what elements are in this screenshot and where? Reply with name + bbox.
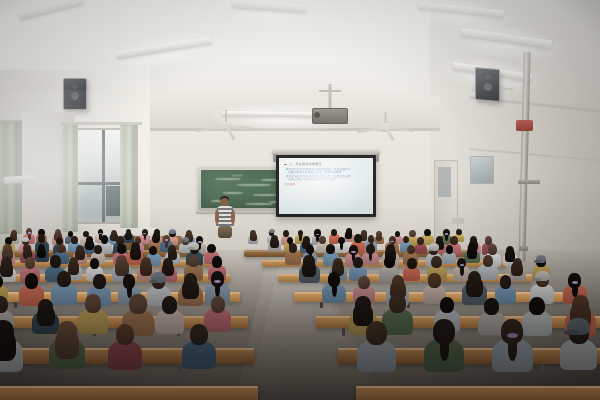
classroom-photo: 二、专业培养的重要性 ◦ 本专业培养适应社会主义现代化建设，专业基础扩实 ◦ 系… — [0, 0, 600, 400]
student-head — [484, 298, 499, 316]
slide-highlight-1: 创新精神 — [284, 183, 368, 186]
student — [424, 319, 464, 377]
student-head — [0, 296, 8, 313]
lecturer-arm-left — [215, 210, 219, 224]
student-head — [190, 324, 208, 345]
slide-title-row: 二、专业培养的重要性 — [284, 162, 368, 166]
student-head — [93, 274, 106, 289]
student-head — [211, 296, 226, 313]
desk-leg — [14, 302, 17, 308]
student-long-hair — [55, 330, 79, 358]
student-head — [85, 294, 101, 313]
student-long-hair — [511, 262, 523, 276]
student-cap-brim — [188, 247, 194, 249]
student-head — [319, 236, 326, 244]
student — [560, 321, 597, 376]
student — [357, 321, 396, 377]
student-cap-brim — [427, 249, 433, 251]
fan-blade — [357, 126, 386, 133]
student-head — [188, 255, 199, 267]
student-head — [529, 297, 545, 315]
student-head — [485, 236, 492, 245]
student-head — [366, 321, 387, 345]
student-torso — [155, 310, 183, 334]
lecturer — [214, 196, 236, 236]
door-window — [438, 167, 451, 197]
student — [492, 319, 532, 378]
lecturer-arm-right — [231, 210, 235, 224]
student-ponytail — [440, 335, 449, 361]
student-head — [407, 258, 416, 269]
desk-leg — [541, 364, 544, 374]
projection-screen: 二、专业培养的重要性 ◦ 本专业培养适应社会主义现代化建设，专业基础扩实 ◦ 系… — [276, 155, 376, 217]
student — [182, 324, 216, 373]
student-head — [152, 234, 160, 243]
student-head — [212, 256, 222, 267]
slide-title-bullet-icon — [284, 164, 287, 165]
student-head — [384, 256, 395, 268]
student-ponytail — [508, 334, 517, 360]
student-head — [500, 275, 512, 288]
student-head — [57, 271, 71, 287]
student-head — [358, 276, 370, 289]
wall-speaker-left-icon — [63, 78, 87, 110]
student-head — [162, 296, 177, 314]
fan-blade — [196, 125, 226, 132]
student-head — [116, 324, 135, 346]
student-long-hair — [250, 233, 257, 241]
student — [299, 255, 320, 285]
student-ponytail — [340, 241, 343, 249]
curtain-rail-left — [60, 122, 142, 125]
student-head — [488, 244, 497, 254]
student-head — [424, 229, 431, 237]
student-head — [149, 246, 157, 255]
sprinkler-valve — [516, 120, 533, 131]
student-cap-brim — [534, 260, 540, 262]
student-head — [90, 258, 99, 269]
student-head — [353, 257, 363, 268]
student-head — [440, 297, 454, 313]
hair-scrunchie — [445, 233, 448, 235]
student-head — [129, 294, 146, 314]
hair-scrunchie — [351, 251, 355, 253]
student-long-hair — [466, 277, 483, 297]
lecture-desk — [0, 386, 258, 400]
wall-speaker-right-icon — [475, 67, 500, 102]
student-head — [25, 273, 39, 289]
student — [49, 321, 85, 374]
student — [322, 272, 345, 306]
desk-leg — [342, 328, 345, 336]
student-head — [389, 294, 406, 313]
student-head — [483, 255, 493, 267]
hair-scrunchie — [460, 264, 465, 266]
slide-title: 二、专业培养的重要性 — [289, 162, 321, 166]
student-head — [431, 256, 442, 268]
pipe-clamp-lower — [519, 246, 528, 251]
student-long-hair — [182, 280, 199, 299]
student-head — [101, 235, 109, 244]
pipe-clamp — [518, 180, 540, 184]
presentation-slide: 二、专业培养的重要性 ◦ 本专业培养适应社会主义现代化建设，专业基础扩实 ◦ 系… — [279, 158, 373, 214]
wall-outlet — [452, 218, 464, 224]
ceiling-fan-center — [358, 112, 412, 139]
student-ponytail — [332, 281, 337, 296]
curtain-left-outer — [120, 124, 138, 228]
student-head — [94, 245, 102, 254]
student-head — [407, 245, 415, 254]
student-head — [446, 245, 454, 254]
student — [155, 296, 183, 338]
student-long-hair — [0, 330, 16, 360]
curtain-left-inner — [62, 122, 78, 232]
student-long-hair — [270, 238, 278, 248]
student-head — [57, 244, 65, 254]
student-torso — [108, 341, 143, 370]
student-head — [207, 244, 215, 254]
student-head — [354, 234, 362, 243]
student — [0, 320, 23, 377]
student — [268, 235, 281, 253]
slide-line-4: ◦ 注重实践能力和综合素质的培养与提升 — [284, 178, 368, 181]
wall-vent-window — [470, 156, 494, 184]
student-head — [117, 244, 126, 254]
desk-edge — [0, 386, 258, 388]
student-head — [71, 236, 77, 243]
student-head — [428, 273, 441, 288]
student-head — [456, 229, 462, 235]
student-head — [38, 234, 46, 243]
desk-edge — [356, 386, 600, 388]
lecture-desk — [356, 386, 600, 400]
student-head — [403, 236, 409, 243]
student-long-hair — [302, 261, 316, 277]
desk-leg — [93, 364, 96, 374]
lecturer-legs — [218, 226, 232, 238]
student-head — [25, 257, 36, 269]
ceiling-projector-icon — [312, 84, 348, 126]
hair-scrunchie — [28, 232, 31, 233]
student-head — [450, 236, 458, 245]
ceiling-fan-left — [196, 110, 256, 140]
student — [108, 324, 143, 374]
student-head — [50, 255, 61, 268]
projection-screen-surface: 二、专业培养的重要性 ◦ 本专业培养适应社会主义现代化建设，专业基础扩实 ◦ 系… — [279, 158, 373, 214]
student — [248, 230, 258, 245]
